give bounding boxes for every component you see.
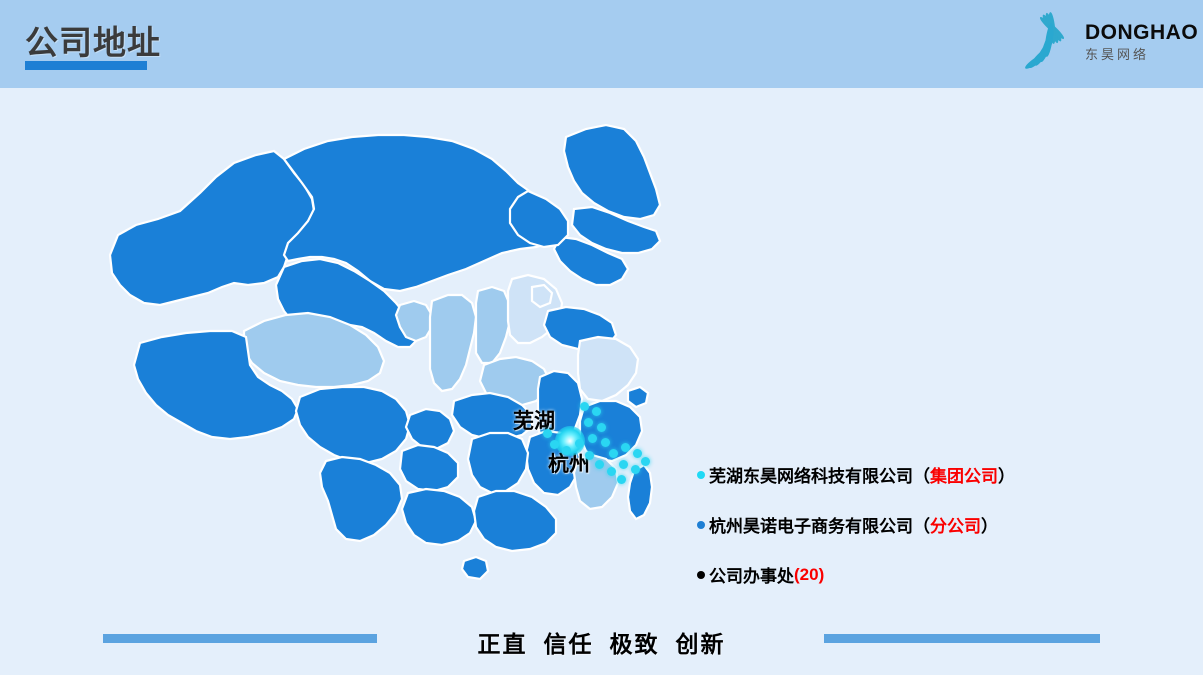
office-marker	[607, 467, 616, 476]
office-marker	[543, 429, 552, 438]
legend-close-paren: ）	[998, 462, 1015, 487]
office-marker	[617, 475, 626, 484]
legend-item-offices: 公司办事处(20)	[697, 562, 1117, 587]
office-marker	[633, 449, 642, 458]
legend-tag: 集团公司	[930, 462, 998, 487]
office-marker	[601, 438, 610, 447]
slide-canvas: 公司地址 DONGHAO 东昊网络	[0, 0, 1203, 675]
office-marker	[550, 440, 559, 449]
legend-label: 公司办事处	[709, 562, 794, 587]
legend-label: 芜湖东昊网络科技有限公司（	[709, 462, 930, 487]
office-marker	[584, 418, 593, 427]
office-marker	[641, 457, 650, 466]
header-band: 公司地址 DONGHAO 东昊网络	[0, 0, 1203, 88]
legend-item-branch-company: 杭州昊诺电子商务有限公司（分公司）	[697, 512, 1117, 537]
office-marker	[588, 434, 597, 443]
office-marker	[592, 407, 601, 416]
legend-bullet-cyan-icon	[697, 471, 705, 479]
slogan-word: 信任	[544, 631, 594, 657]
footer-slogan: 正直信任极致创新	[0, 625, 1203, 659]
legend-tag: (20)	[794, 565, 824, 585]
office-marker	[631, 465, 640, 474]
legend-item-group-company: 芜湖东昊网络科技有限公司（集团公司）	[697, 462, 1117, 487]
brand-logo: DONGHAO 东昊网络	[1015, 8, 1195, 80]
page-title: 公司地址	[25, 16, 161, 64]
slogan-word: 极致	[610, 631, 660, 657]
office-marker	[619, 460, 628, 469]
slogan-word: 正直	[478, 631, 528, 657]
office-marker	[562, 446, 571, 455]
china-map-container: 芜湖 杭州	[88, 115, 708, 595]
legend-tag: 分公司	[930, 512, 981, 537]
office-marker	[595, 460, 604, 469]
legend-close-paren: ）	[981, 512, 998, 537]
logo-brand-subtitle: 东昊网络	[1085, 48, 1195, 61]
logo-text-block: DONGHAO 东昊网络	[1085, 22, 1195, 61]
legend-bullet-blue-icon	[697, 521, 705, 529]
legend-label: 杭州昊诺电子商务有限公司（	[709, 512, 930, 537]
office-marker	[580, 402, 589, 411]
office-marker	[585, 451, 594, 460]
logo-brand-name: DONGHAO	[1085, 22, 1195, 43]
office-marker	[575, 439, 584, 448]
china-map-svg	[88, 115, 708, 595]
legend-panel: 芜湖东昊网络科技有限公司（集团公司） 杭州昊诺电子商务有限公司（分公司） 公司办…	[697, 462, 1117, 612]
slogan-word: 创新	[676, 631, 726, 657]
title-underline	[25, 61, 147, 70]
office-marker	[621, 443, 630, 452]
office-marker	[609, 449, 618, 458]
donghao-feather-icon	[1019, 10, 1085, 78]
legend-bullet-black-icon	[697, 571, 705, 579]
office-marker	[597, 423, 606, 432]
